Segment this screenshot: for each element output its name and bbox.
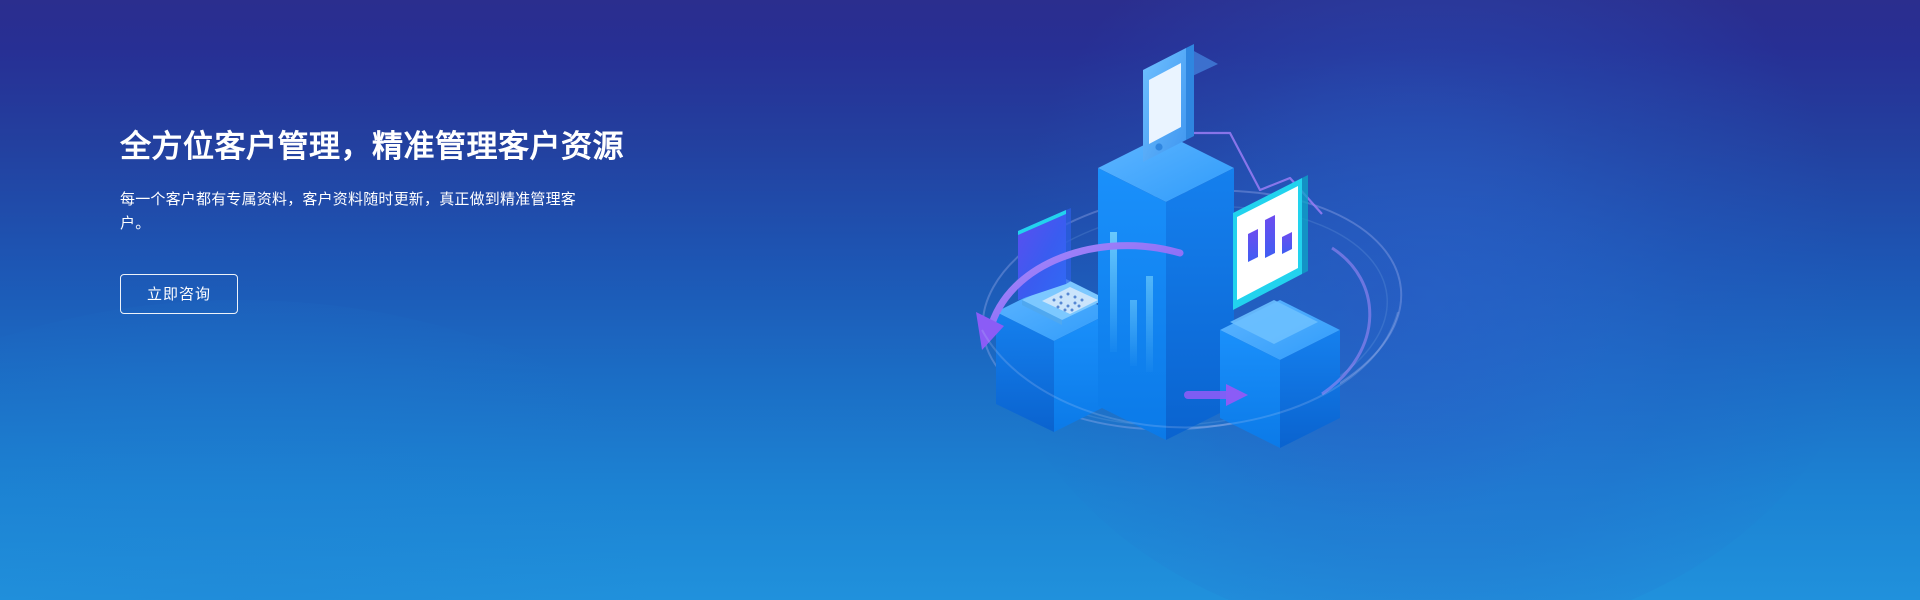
right-pillar-group: [1220, 175, 1340, 448]
hero-copy-block: 全方位客户管理，精准管理客户资源 每一个客户都有专属资料，客户资料随时更新，真正…: [120, 128, 680, 314]
background-glow-lower: [0, 300, 740, 600]
left-pillar-group: [996, 208, 1112, 432]
consult-now-button[interactable]: 立即咨询: [120, 274, 238, 314]
center-pillar-group: [1098, 44, 1234, 440]
hero-subtitle: 每一个客户都有专属资料，客户资料随时更新，真正做到精准管理客户。: [120, 188, 598, 237]
isometric-pillars-svg: [930, 0, 1450, 600]
laptop-screen-side: [1066, 208, 1071, 284]
hero-illustration: [930, 0, 1450, 600]
hero-banner: 全方位客户管理，精准管理客户资源 每一个客户都有专属资料，客户资料随时更新，真正…: [0, 0, 1920, 600]
page-title: 全方位客户管理，精准管理客户资源: [120, 128, 680, 166]
tablet-home-button: [1155, 143, 1162, 150]
tablet-side: [1186, 44, 1194, 140]
monitor-side: [1302, 175, 1308, 274]
